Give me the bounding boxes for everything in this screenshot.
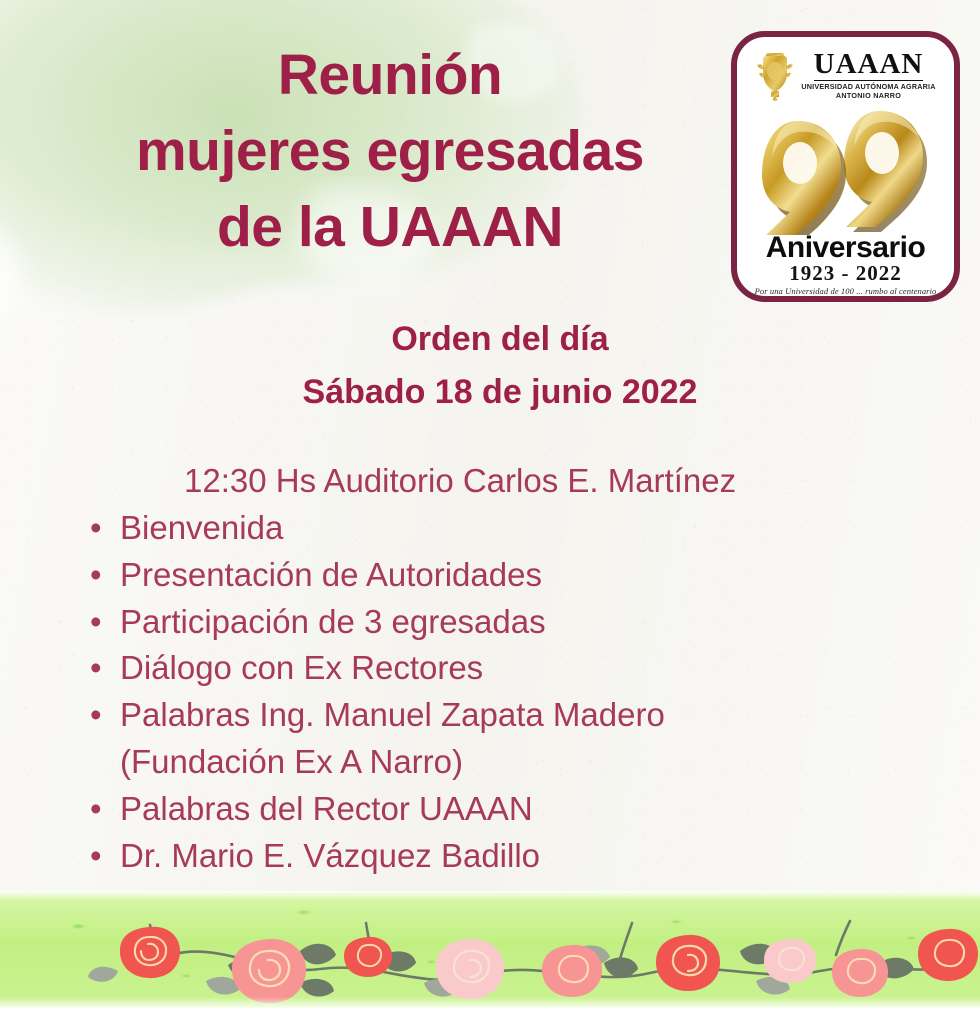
uaaan-crest-icon bbox=[755, 49, 795, 101]
wordmark-acronym: UAAAN bbox=[814, 50, 924, 81]
wordmark-subtitle-line2: ANTONIO NARRO bbox=[836, 91, 901, 100]
title-line-1: Reunión bbox=[60, 38, 720, 114]
list-item-label: Dr. Mario E. Vázquez Badillo bbox=[120, 837, 540, 874]
bullet-icon: • bbox=[90, 552, 102, 599]
list-item-continuation: (Fundación Ex A Narro) bbox=[78, 739, 878, 786]
subtitle-agenda-label: Orden del día bbox=[150, 313, 850, 366]
anniversary-years: 1923 - 2022 bbox=[737, 263, 954, 284]
list-item: • Diálogo con Ex Rectores bbox=[78, 645, 878, 692]
list-item-label: Palabras Ing. Manuel Zapata Madero bbox=[120, 696, 665, 733]
anniversary-number-graphic bbox=[737, 103, 954, 240]
title-line-3: de la UAAAN bbox=[60, 190, 720, 266]
list-item: • Palabras Ing. Manuel Zapata Madero bbox=[78, 692, 878, 739]
list-item-label: Bienvenida bbox=[120, 509, 283, 546]
list-item: • Participación de 3 egresadas bbox=[78, 599, 878, 646]
bullet-icon: • bbox=[90, 645, 102, 692]
rose-vine-decoration bbox=[0, 891, 980, 1009]
bottom-white-margin bbox=[0, 1008, 980, 1023]
list-item-label: (Fundación Ex A Narro) bbox=[120, 743, 463, 780]
title-line-2: mujeres egresadas bbox=[60, 114, 720, 190]
agenda-time-venue: 12:30 Hs Auditorio Carlos E. Martínez bbox=[78, 458, 878, 505]
gold-99-icon bbox=[746, 103, 946, 235]
band-top-fade bbox=[0, 891, 980, 901]
list-item: • Palabras del Rector UAAAN bbox=[78, 786, 878, 833]
poster-title: Reunión mujeres egresadas de la UAAAN bbox=[60, 38, 720, 265]
rose-group bbox=[120, 927, 978, 1003]
bullet-icon: • bbox=[90, 599, 102, 646]
wordmark-subtitle-line1: UNIVERSIDAD AUTÓNOMA AGRARIA bbox=[801, 82, 935, 91]
list-item: • Bienvenida bbox=[78, 505, 878, 552]
list-item-label: Presentación de Autoridades bbox=[120, 556, 542, 593]
anniversary-motto: Por una Universidad de 100 ... rumbo al … bbox=[737, 287, 954, 296]
anniversary-label: Aniversario bbox=[737, 233, 954, 263]
list-item: • Presentación de Autoridades bbox=[78, 552, 878, 599]
bottom-floral-band bbox=[0, 891, 980, 1009]
logo-header-row: UAAAN UNIVERSIDAD AUTÓNOMA AGRARIA ANTON… bbox=[737, 49, 954, 101]
agenda-list: • Bienvenida • Presentación de Autoridad… bbox=[78, 505, 878, 880]
list-item-label: Diálogo con Ex Rectores bbox=[120, 649, 483, 686]
list-item-label: Palabras del Rector UAAAN bbox=[120, 790, 533, 827]
bullet-icon: • bbox=[90, 833, 102, 880]
agenda-section: 12:30 Hs Auditorio Carlos E. Martínez • … bbox=[78, 458, 878, 880]
bullet-icon: • bbox=[90, 692, 102, 739]
poster-canvas: Reunión mujeres egresadas de la UAAAN Or… bbox=[0, 0, 980, 1023]
uaaan-anniversary-logo-badge: UAAAN UNIVERSIDAD AUTÓNOMA AGRARIA ANTON… bbox=[731, 31, 960, 302]
list-item: • Dr. Mario E. Vázquez Badillo bbox=[78, 833, 878, 880]
subtitle-date: Sábado 18 de junio 2022 bbox=[150, 366, 850, 419]
poster-subtitle: Orden del día Sábado 18 de junio 2022 bbox=[150, 313, 850, 418]
bullet-icon: • bbox=[90, 786, 102, 833]
uaaan-wordmark: UAAAN UNIVERSIDAD AUTÓNOMA AGRARIA ANTON… bbox=[801, 50, 935, 101]
bullet-icon: • bbox=[90, 505, 102, 552]
list-item-label: Participación de 3 egresadas bbox=[120, 603, 546, 640]
